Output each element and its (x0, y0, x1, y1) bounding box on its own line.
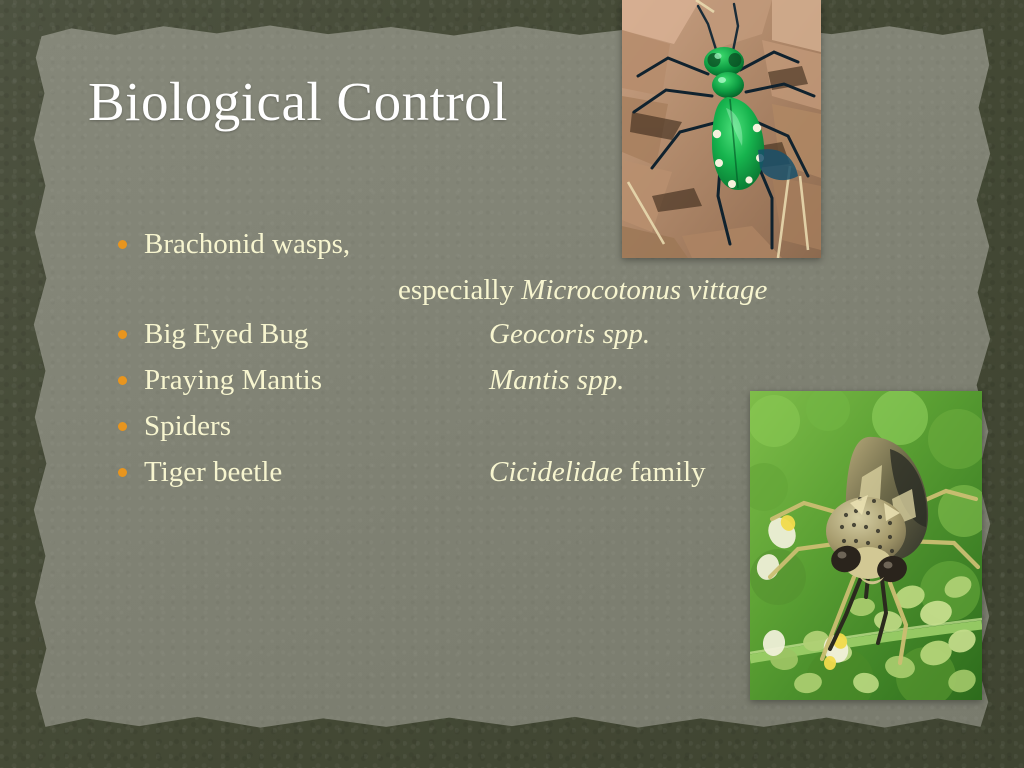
scientific-name-group: Geocoris spp. (489, 318, 650, 351)
bullet-dot-icon (118, 233, 144, 253)
scientific-name: Mantis spp. (489, 364, 624, 396)
list-item-label: Big Eyed Bug (144, 318, 489, 351)
list-item-continuation: especially Microcotonus vittage (118, 274, 878, 318)
list-item-label: Spiders (144, 410, 489, 443)
presentation-slide: Biological Control Brachonid wasps, espe… (0, 0, 1024, 768)
bullet-dot-icon (118, 323, 144, 343)
list-item-label: Praying Mantis (144, 364, 489, 397)
list-item-label: Tiger beetle (144, 456, 489, 489)
list-item-label: Brachonid wasps, (144, 228, 489, 261)
scientific-name: Cicidelidae (489, 456, 623, 488)
big-eyed-bug-photo (750, 391, 982, 700)
page-title: Biological Control (88, 74, 508, 129)
bullet-dot-icon (118, 415, 144, 435)
bullet-dot-icon (118, 369, 144, 389)
scientific-name-suffix: family (623, 456, 706, 488)
scientific-name-group: Mantis spp. (489, 364, 624, 397)
continuation-prefix: especially (398, 274, 521, 306)
scientific-name-group: Cicidelidae family (489, 456, 706, 489)
big-eyed-bug-illustration (750, 391, 982, 700)
bullet-dot-icon (118, 461, 144, 481)
tiger-beetle-photo (622, 0, 821, 258)
list-item: Big Eyed Bug Geocoris spp. (118, 318, 878, 364)
scientific-name: Microcotonus vittage (521, 274, 767, 306)
tiger-beetle-illustration (622, 0, 821, 258)
scientific-name: Geocoris spp. (489, 318, 650, 350)
